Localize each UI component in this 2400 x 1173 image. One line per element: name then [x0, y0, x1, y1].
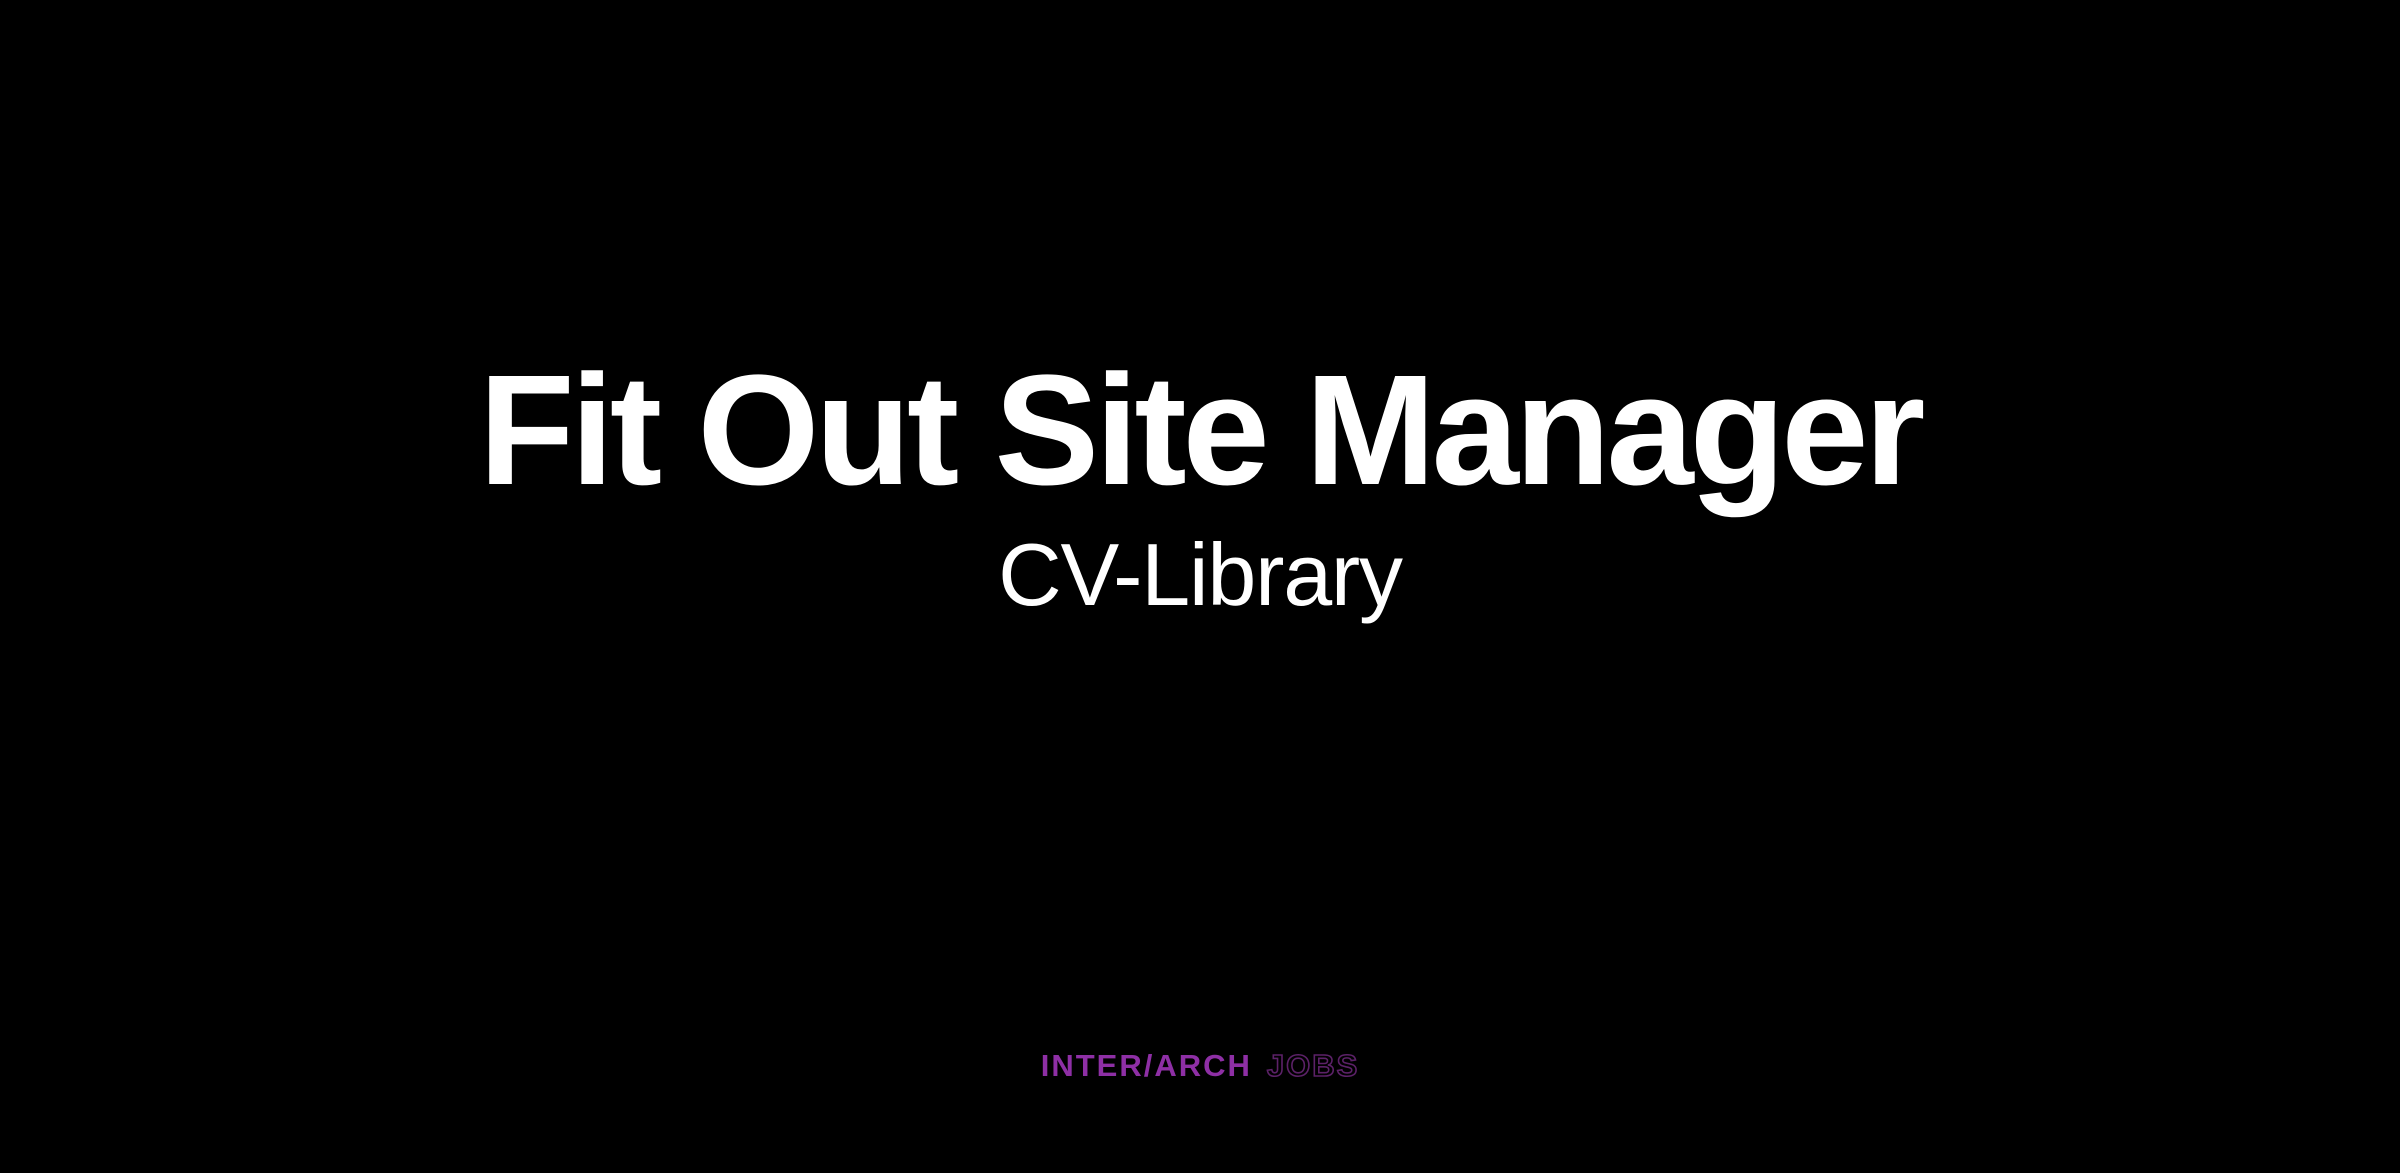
job-source-subtitle: CV-Library — [998, 529, 1402, 621]
job-posting-slide: Fit Out Site Manager CV-Library INTER/AR… — [0, 0, 2400, 1173]
headline-block: Fit Out Site Manager CV-Library — [0, 352, 2400, 621]
brand-logo: INTER/ARCH JOBS — [0, 1050, 2400, 1081]
brand-logo-secondary-text: JOBS — [1267, 1050, 1359, 1081]
brand-logo-primary-text: INTER/ARCH — [1041, 1050, 1252, 1081]
page-title: Fit Out Site Manager — [479, 352, 1922, 509]
